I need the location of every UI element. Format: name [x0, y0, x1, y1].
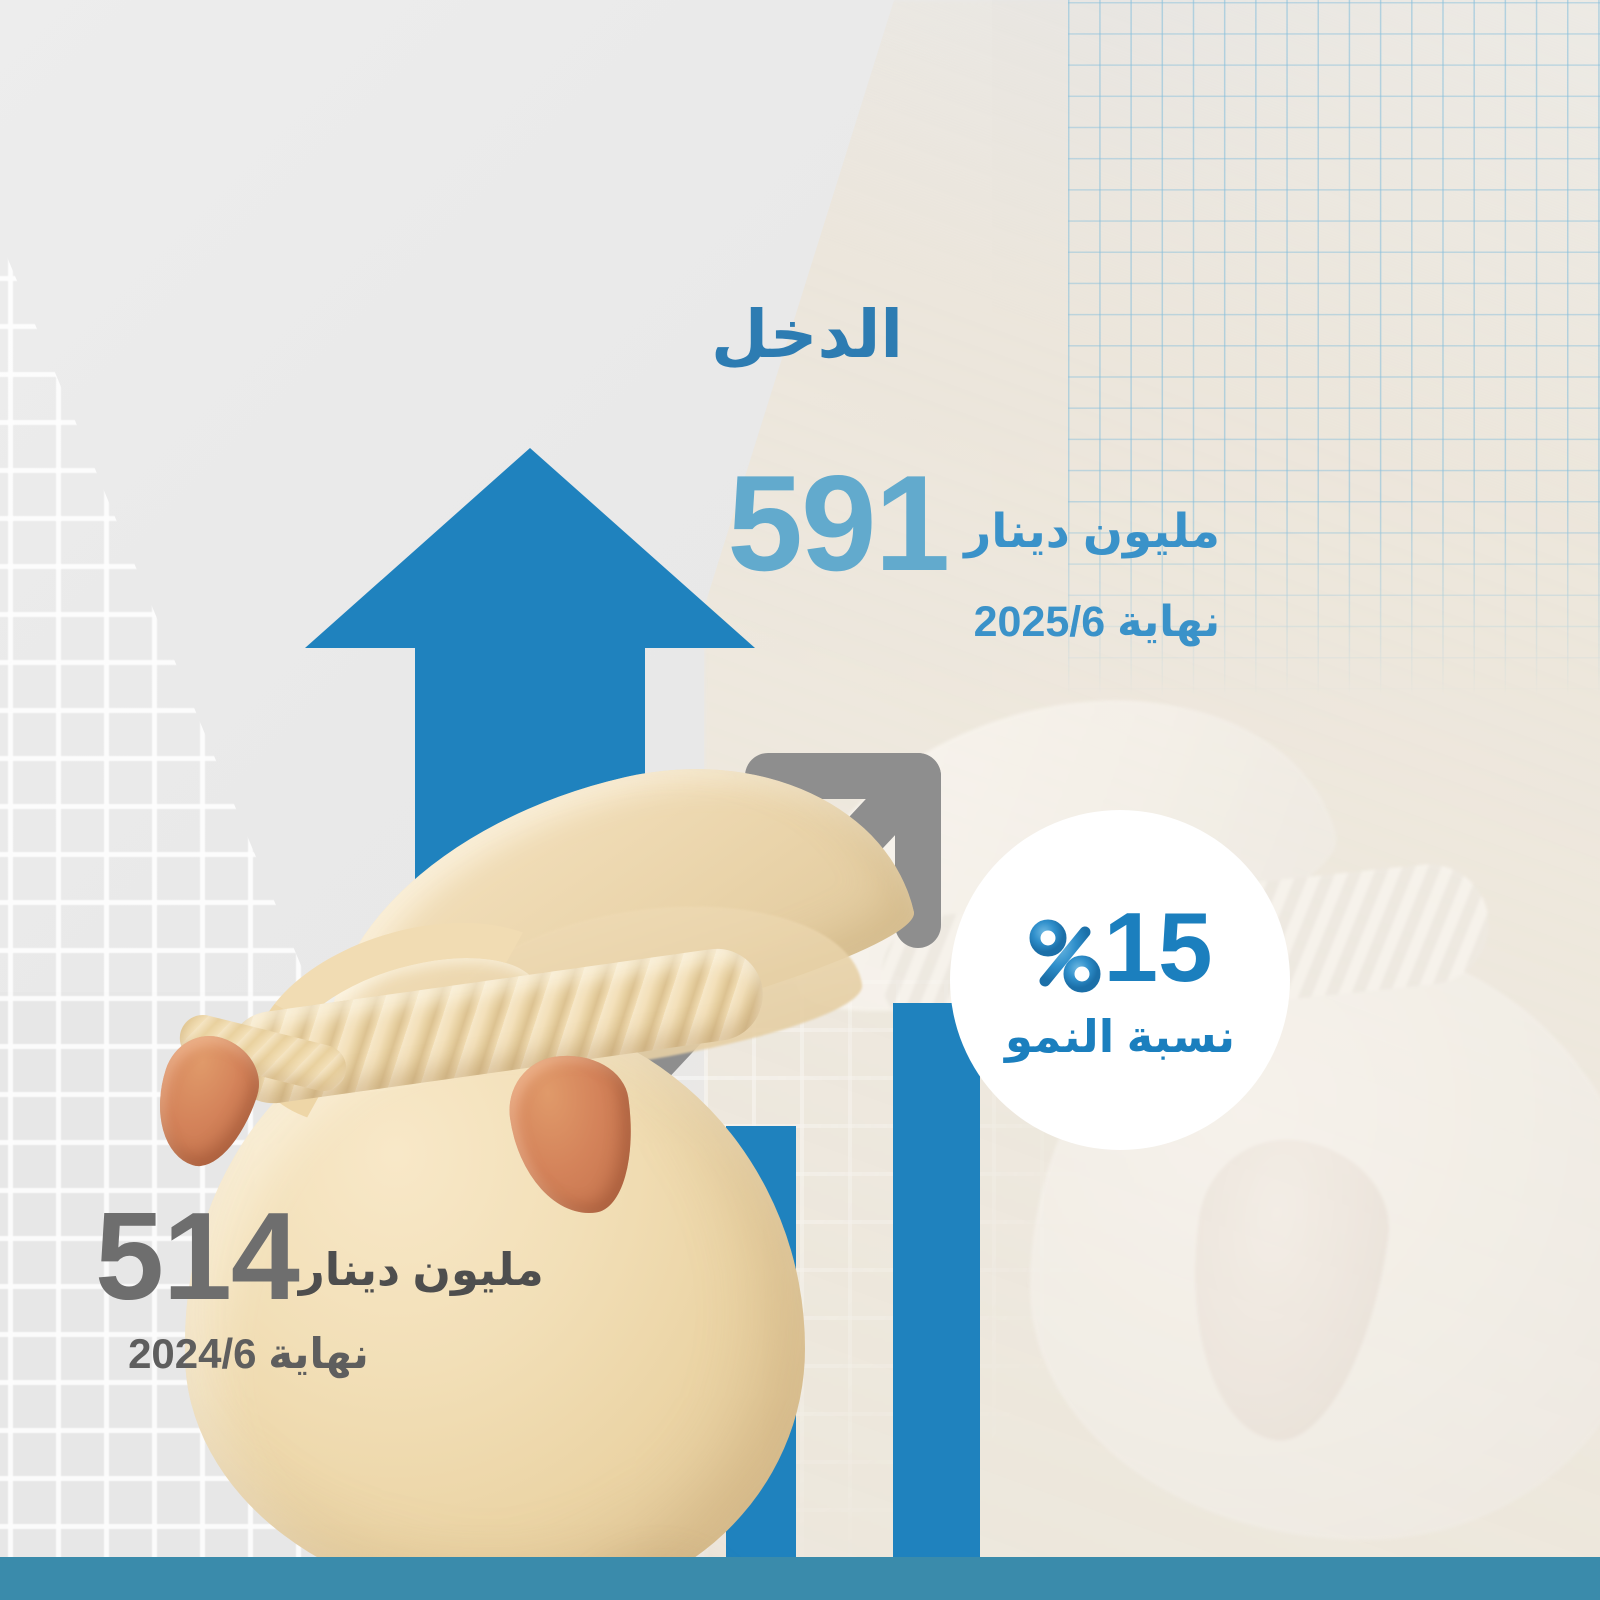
growth-rate-badge: 15 نسبة النمو — [950, 810, 1290, 1150]
footer-strip — [0, 1557, 1600, 1600]
growth-rate-value: 15 — [1104, 898, 1213, 996]
current-period-label: نهاية 2025/6 — [727, 597, 1220, 647]
current-period-value: 591 — [727, 455, 948, 591]
percent-icon — [1028, 912, 1102, 990]
growth-rate-label: نسبة النمو — [1005, 1010, 1235, 1063]
current-period-row: مليون دينار591 — [727, 455, 1220, 591]
infographic-canvas: الدخل مليون دينار591 نهاية 2025/6 مليون … — [0, 0, 1600, 1600]
page-title: الدخل — [711, 296, 903, 373]
growth-rate-value-row: 15 — [1028, 898, 1213, 996]
previous-period-label: نهاية 2024/6 — [95, 1329, 402, 1378]
previous-period-unit: مليون دينار — [299, 1243, 544, 1296]
previous-period-row: مليون دينار514 — [95, 1195, 572, 1319]
previous-period-figure: مليون دينار514 نهاية 2024/6 — [95, 1195, 572, 1378]
current-period-unit: مليون دينار — [964, 503, 1220, 559]
current-period-figure: مليون دينار591 نهاية 2025/6 — [727, 455, 1220, 647]
previous-period-value: 514 — [95, 1195, 299, 1319]
